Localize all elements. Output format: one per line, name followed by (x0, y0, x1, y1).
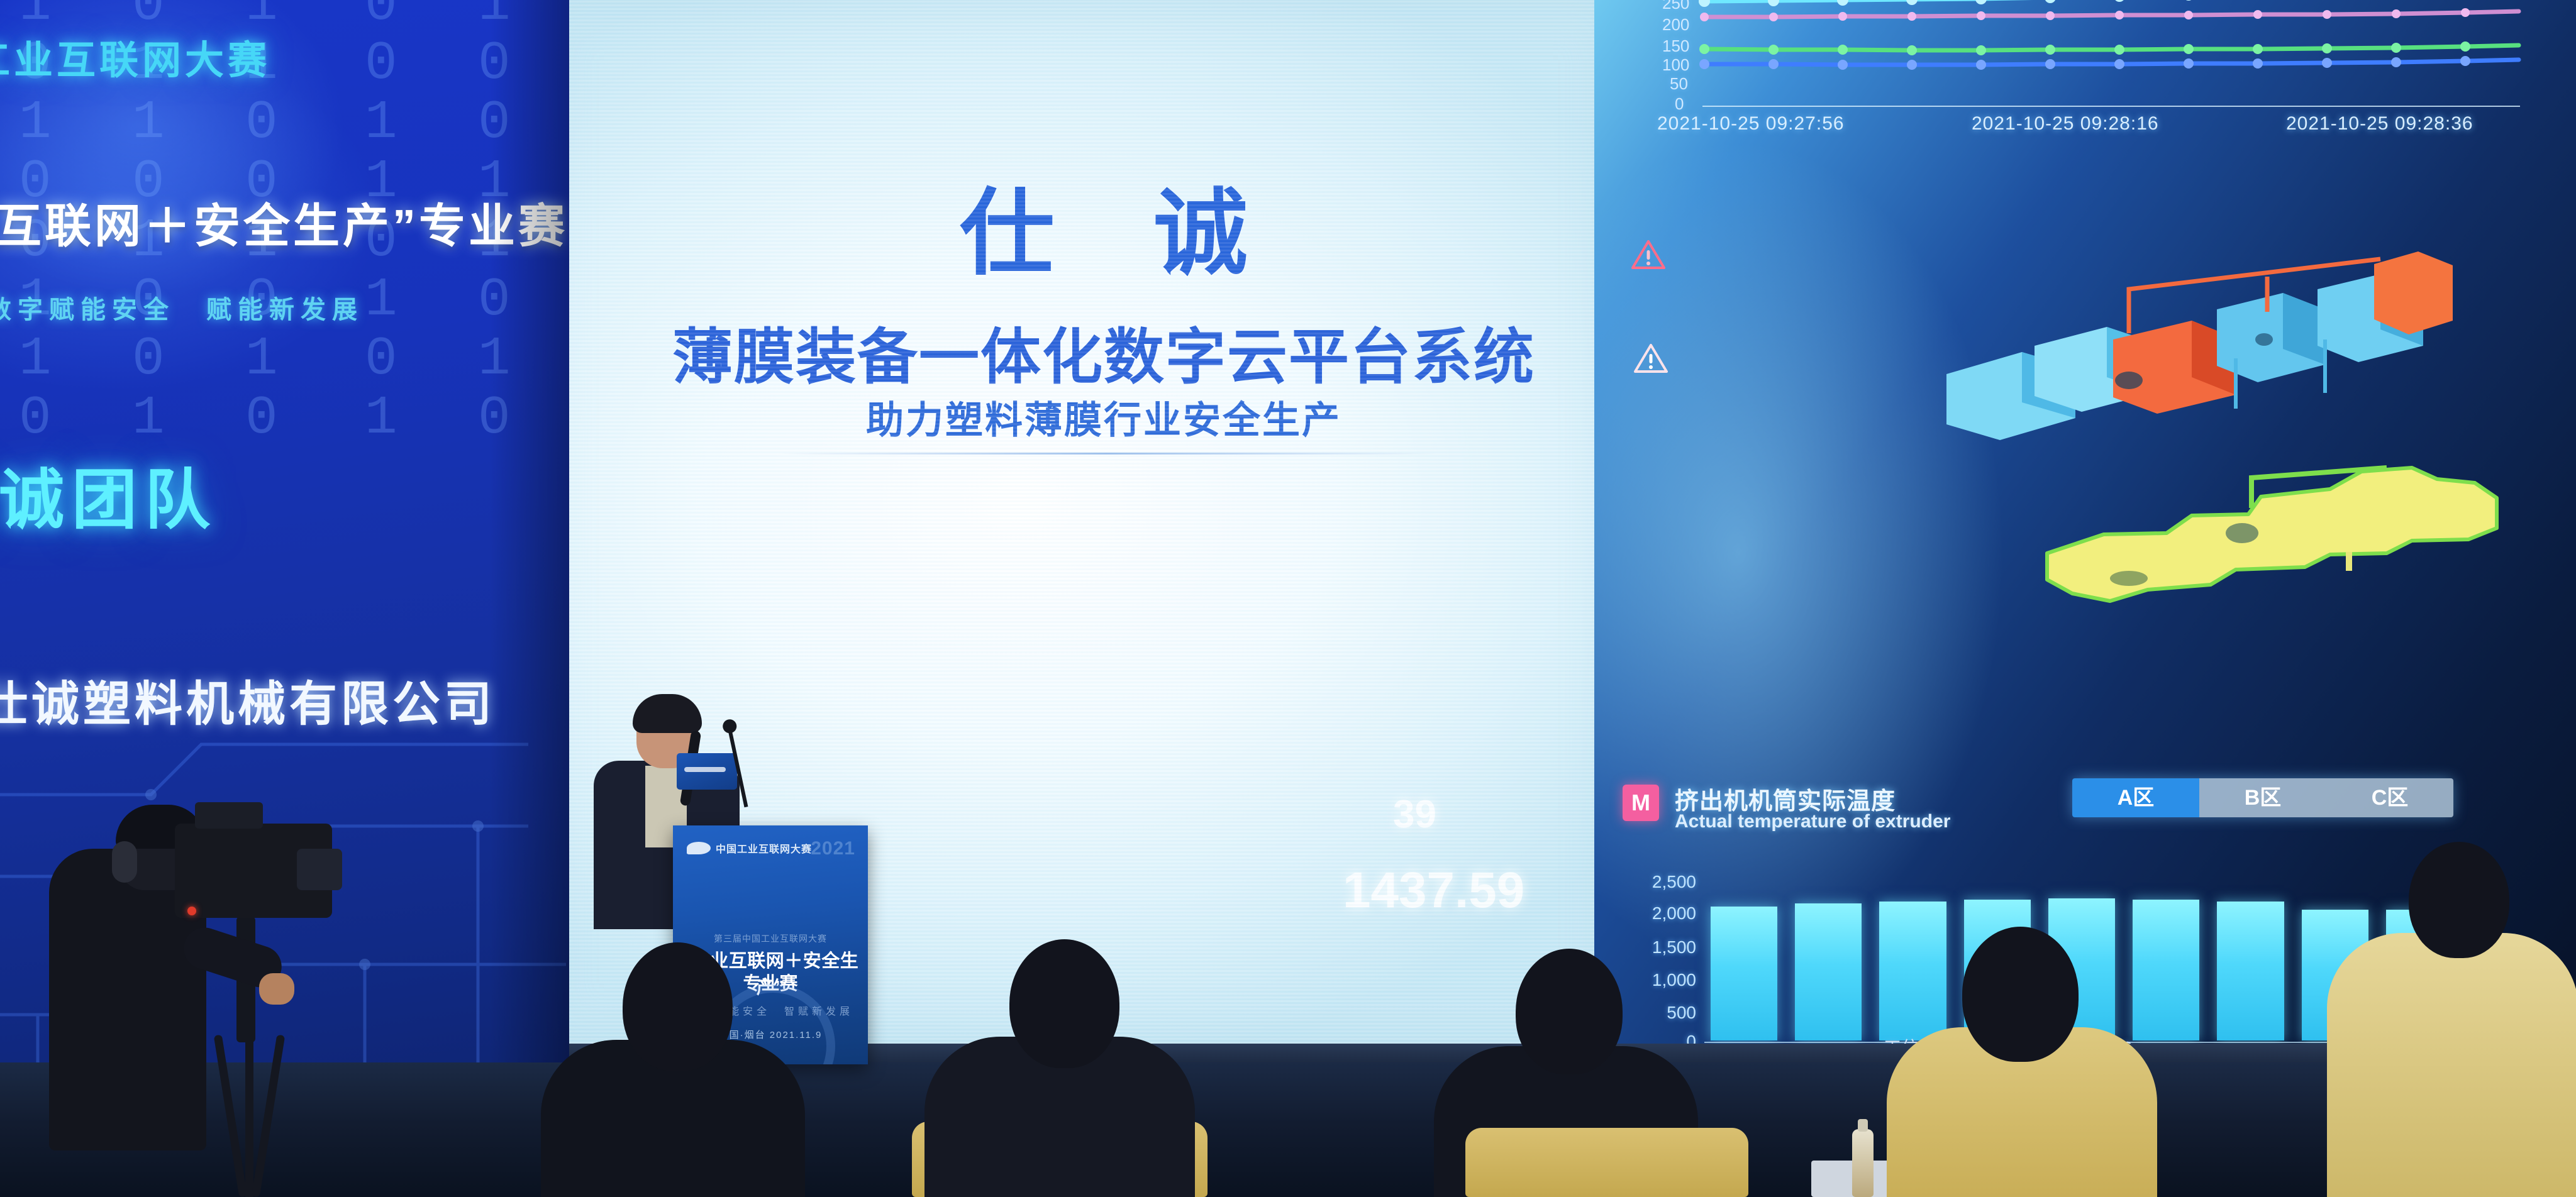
banner-subtitle: 数字赋能安全 赋能新发展 (0, 289, 364, 326)
slide-divider (777, 453, 1437, 455)
slide-brand-logo: 仕 诚 (569, 157, 1638, 294)
lectern-brand-text: 中国工业互联网大赛 (716, 841, 812, 856)
projection-screen: 仕 诚 薄膜装备一体化数字云平台系统 助力塑料薄膜行业安全生产 39 1437.… (569, 0, 2576, 1062)
presenter-hair (633, 694, 702, 733)
lectern-pretitle: 第三届中国工业互联网大赛 (673, 932, 868, 945)
tripod-leg (252, 1035, 286, 1197)
audience-shoulders (2327, 933, 2576, 1197)
audience-head (623, 942, 733, 1071)
audience-head (2409, 842, 2509, 958)
tripod-leg (214, 1035, 248, 1197)
audience-member (2327, 883, 2576, 1197)
lectern-year: 2021 (811, 838, 855, 859)
bar-item[interactable] (1795, 903, 1862, 1040)
ghost-metric-value-2: 1437.59 (1343, 861, 1524, 919)
extruder-3d-model-thermal[interactable] (1940, 251, 2456, 440)
bar-item[interactable] (1711, 907, 1777, 1040)
banner-title-main: 中国工业互联网大赛 (0, 28, 270, 85)
extruder-panel-title-en: Actual temperature of extruder (1675, 811, 1950, 832)
bar-chart-ytick: 1,500 (1627, 937, 1696, 957)
operator-hand (259, 973, 294, 1005)
audience-head (1962, 927, 2079, 1062)
tab-zone-a[interactable]: A区 (2072, 778, 2199, 817)
headphone-cup-icon (112, 841, 137, 883)
banner-team-name: 仕诚团队 (0, 446, 218, 541)
banner-title-track: “工业互联网＋安全生产”专业赛 (0, 189, 568, 256)
swoosh-icon (687, 842, 711, 854)
warning-triangle-icon[interactable] (1633, 343, 1668, 374)
record-indicator-icon (187, 907, 196, 915)
zone-tab-group[interactable]: A区 B区 C区 (2072, 778, 2453, 817)
bar-chart-ytick: 2,000 (1627, 903, 1696, 924)
tab-zone-b[interactable]: B区 (2199, 778, 2326, 817)
audience-member (924, 964, 1195, 1197)
slide-headline: 薄膜装备一体化数字云平台系统 (569, 308, 1638, 395)
camera-top-handle (195, 802, 263, 829)
line-chart-xtick: 2021-10-25 09:27:56 (1657, 113, 1845, 135)
slide-subheadline: 助力塑料薄膜行业安全生产 (569, 390, 1638, 444)
ghost-metric-value-1: 39 (1393, 792, 1436, 837)
audience-head (1516, 949, 1623, 1074)
conference-photo-scene: 1 0 1 0 0 1 1 0 0 1 1 0 1 0 0 1 1 1 0 0 … (0, 0, 2576, 1197)
line-chart-plot (1645, 0, 2544, 170)
lectern-brand-lockup: 中国工业互联网大赛 (687, 841, 812, 856)
camera-lens (297, 849, 342, 890)
tab-zone-c[interactable]: C区 (2326, 778, 2453, 817)
audience-member (541, 971, 805, 1197)
metric-badge-icon: M (1623, 785, 1659, 821)
realtime-line-chart: 250 200 150 100 50 0 (1645, 0, 2544, 170)
bar-item[interactable] (2217, 902, 2284, 1040)
audience-head (1009, 939, 1119, 1068)
tripod-leg (245, 1034, 253, 1197)
extruder-3d-model-silhouette[interactable] (2035, 459, 2512, 622)
line-chart-xtick: 2021-10-25 09:28:36 (2286, 113, 2473, 135)
water-bottle (1852, 1129, 1874, 1197)
camera-operator (38, 748, 340, 1197)
audience-chair (1465, 1128, 1748, 1197)
line-chart-xtick: 2021-10-25 09:28:16 (1972, 113, 2159, 135)
audience-member (1887, 952, 2157, 1197)
microphone-flag (677, 753, 737, 790)
bar-chart-ytick: 2,500 (1627, 872, 1696, 892)
venue-floor (0, 1062, 2576, 1197)
warning-triangle-icon[interactable] (1631, 239, 1666, 270)
